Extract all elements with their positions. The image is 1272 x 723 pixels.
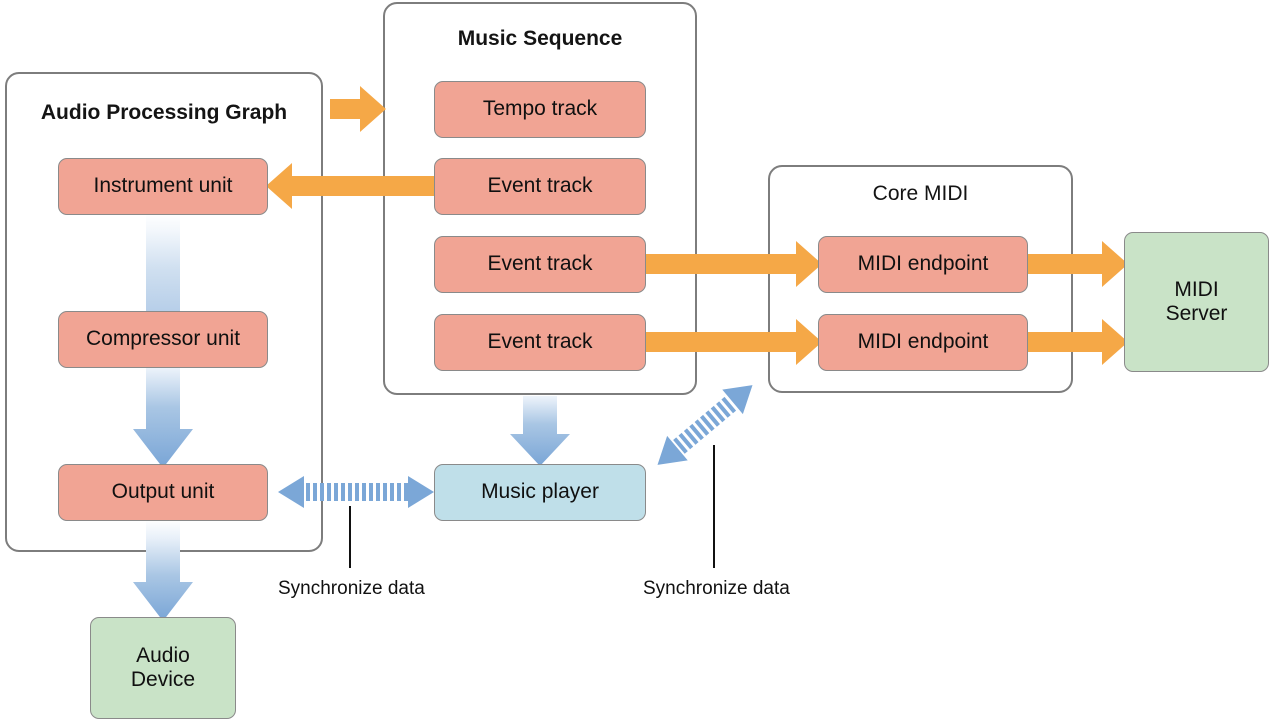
arrow-music-sequence-to-music-player xyxy=(510,396,570,466)
arrow-output-unit-to-audio-device xyxy=(133,520,193,621)
node-event-track-2[interactable]: Event track xyxy=(434,236,646,293)
node-midi-endpoint-2[interactable]: MIDI endpoint xyxy=(818,314,1028,371)
node-audio-device[interactable]: Audio Device xyxy=(90,617,236,719)
group-music-sequence-title: Music Sequence xyxy=(383,27,697,51)
arrow-apg-to-music-sequence xyxy=(330,86,386,132)
node-midi-server[interactable]: MIDI Server xyxy=(1124,232,1269,372)
arrow-instrument-unit-to-compressor-unit xyxy=(146,213,180,314)
node-event-track-3[interactable]: Event track xyxy=(434,314,646,371)
arrow-midi-endpoint-2-to-midi-server xyxy=(1026,319,1128,365)
node-compressor-unit[interactable]: Compressor unit xyxy=(58,311,268,368)
node-instrument-unit[interactable]: Instrument unit xyxy=(58,158,268,215)
diagram-canvas: Audio Processing Graph Music Sequence Co… xyxy=(0,0,1272,723)
group-core-midi-title: Core MIDI xyxy=(768,182,1073,206)
node-tempo-track[interactable]: Tempo track xyxy=(434,81,646,138)
arrow-music-player-core-midi-sync xyxy=(640,370,770,480)
node-midi-endpoint-1[interactable]: MIDI endpoint xyxy=(818,236,1028,293)
caption-sync-right: Synchronize data xyxy=(643,578,790,600)
arrow-event-track-1-to-instrument-unit xyxy=(266,163,436,209)
leader-line-sync-left xyxy=(349,506,351,568)
arrow-midi-endpoint-1-to-midi-server xyxy=(1026,241,1128,287)
node-music-player[interactable]: Music player xyxy=(434,464,646,521)
arrow-output-unit-music-player-sync xyxy=(278,472,434,512)
caption-sync-left: Synchronize data xyxy=(278,578,425,600)
arrow-compressor-unit-to-output-unit xyxy=(133,367,193,468)
node-output-unit[interactable]: Output unit xyxy=(58,464,268,521)
node-event-track-1[interactable]: Event track xyxy=(434,158,646,215)
group-audio-processing-graph-title: Audio Processing Graph xyxy=(5,101,323,125)
arrow-event-track-2-to-midi-endpoint-1 xyxy=(644,241,822,287)
arrow-event-track-3-to-midi-endpoint-2 xyxy=(644,319,822,365)
leader-line-sync-right xyxy=(713,445,715,568)
